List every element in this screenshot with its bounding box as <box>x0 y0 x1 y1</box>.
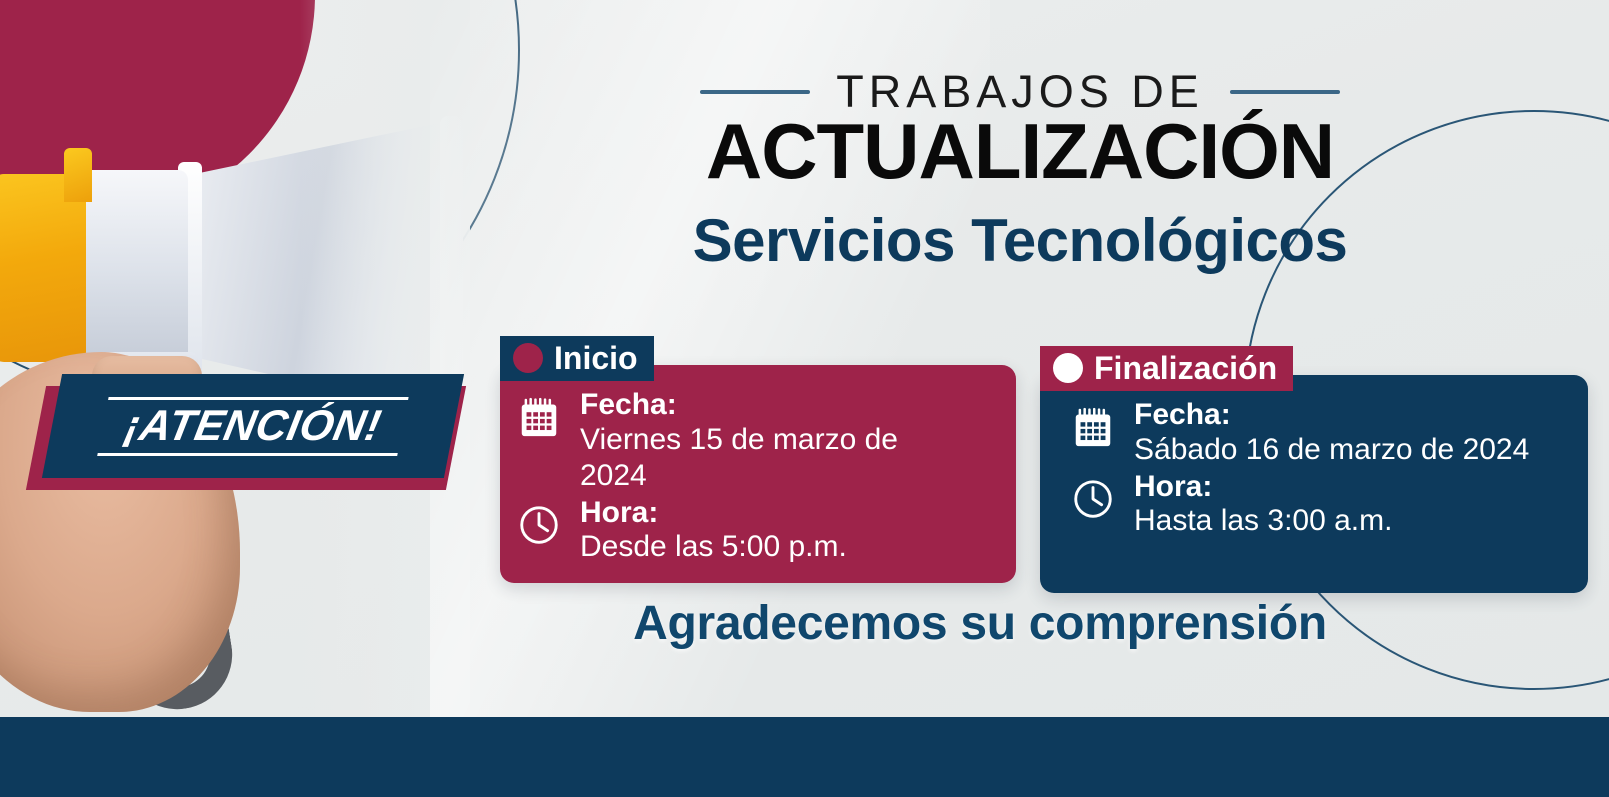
bottom-bar <box>0 717 1609 797</box>
megaphone-cap-tab <box>64 148 92 202</box>
clock-icon <box>1070 476 1116 522</box>
page-subtitle: Servicios Tecnológicos <box>580 208 1460 274</box>
end-time-row: Hora: Hasta las 3:00 a.m. <box>1070 470 1540 540</box>
start-card-tab: Inicio <box>500 336 654 381</box>
end-card-tab-label: Finalización <box>1094 352 1277 384</box>
calendar-icon <box>1070 404 1116 450</box>
start-time-row: Hora: Desde las 5:00 p.m. <box>516 496 956 566</box>
maroon-dot-icon <box>513 343 543 373</box>
start-date-label: Fecha: <box>580 388 956 422</box>
start-time-value: Desde las 5:00 p.m. <box>580 529 847 565</box>
end-time-label: Hora: <box>1134 470 1392 504</box>
end-card-body: Fecha: Sábado 16 de marzo de 2024 Hora: … <box>1070 398 1540 539</box>
start-card-body: Fecha: Viernes 15 de marzo de 2024 Hora:… <box>516 388 956 565</box>
start-time-field: Hora: Desde las 5:00 p.m. <box>580 496 847 566</box>
start-card-tab-label: Inicio <box>554 342 638 374</box>
end-card-tab: Finalización <box>1040 346 1293 391</box>
attention-badge-label: ¡ATENCIÓN! <box>121 405 384 448</box>
end-date-row: Fecha: Sábado 16 de marzo de 2024 <box>1070 398 1540 468</box>
start-date-row: Fecha: Viernes 15 de marzo de 2024 <box>516 388 956 494</box>
megaphone-photo <box>0 0 470 717</box>
end-time-field: Hora: Hasta las 3:00 a.m. <box>1134 470 1392 540</box>
photo-fade-overlay <box>300 0 470 717</box>
end-time-value: Hasta las 3:00 a.m. <box>1134 503 1392 539</box>
announcement-banner: ¡ATENCIÓN! TRABAJOS DE ACTUALIZACIÓN Ser… <box>0 0 1609 797</box>
kicker-rule-left <box>700 90 810 94</box>
start-date-field: Fecha: Viernes 15 de marzo de 2024 <box>580 388 956 494</box>
page-title: ACTUALIZACIÓN <box>600 112 1440 190</box>
end-date-label: Fecha: <box>1134 398 1529 432</box>
attention-rule-bottom <box>97 453 398 456</box>
end-date-field: Fecha: Sábado 16 de marzo de 2024 <box>1134 398 1529 468</box>
thanks-message: Agradecemos su comprensión <box>480 596 1480 651</box>
attention-badge-panel: ¡ATENCIÓN! <box>42 374 464 478</box>
calendar-icon <box>516 394 562 440</box>
attention-badge: ¡ATENCIÓN! <box>18 372 458 504</box>
white-dot-icon <box>1053 353 1083 383</box>
start-time-label: Hora: <box>580 496 847 530</box>
end-date-value: Sábado 16 de marzo de 2024 <box>1134 432 1529 468</box>
megaphone-yellow-cap <box>0 174 86 362</box>
attention-rule-top <box>108 397 409 400</box>
start-date-value: Viernes 15 de marzo de 2024 <box>580 422 956 494</box>
clock-icon <box>516 502 562 548</box>
kicker-rule-right <box>1230 90 1340 94</box>
